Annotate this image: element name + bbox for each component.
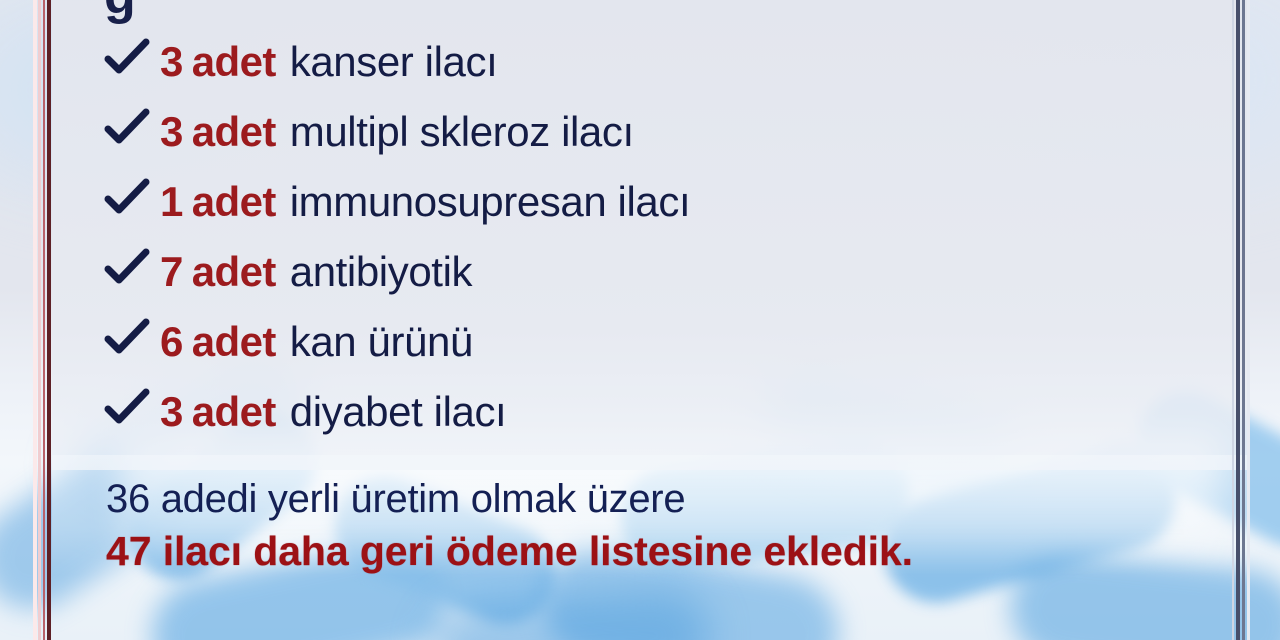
footer-line-domestic-production: 36 adedi yerli üretim olmak üzere: [106, 478, 1216, 521]
list-item-label: multipl skleroz ilacı: [290, 108, 634, 156]
list-item: 3adet multipl skleroz ilacı: [104, 106, 1194, 176]
check-icon: [104, 318, 160, 358]
list-item-label: antibiyotik: [290, 248, 472, 296]
poster-canvas: g 3adet kanser ilacı: [0, 0, 1280, 640]
list-item-label: kan ürünü: [290, 318, 473, 366]
list-item-quantity-number: 3: [160, 388, 183, 435]
list-item-quantity-number: 7: [160, 248, 183, 295]
list-item-quantity-number: 3: [160, 38, 183, 85]
list-item: 3adet diyabet ilacı: [104, 386, 1194, 456]
list-item-label: kanser ilacı: [290, 38, 498, 86]
list-item-quantity-unit: adet: [192, 388, 276, 435]
poster-content: g 3adet kanser ilacı: [0, 0, 1280, 640]
footer-line-reimbursement: 47 ilacı daha geri ödeme listesine ekled…: [106, 529, 1216, 574]
list-item-quantity-unit: adet: [192, 178, 276, 225]
list-item-quantity-unit: adet: [192, 38, 276, 85]
list-item: 7adet antibiyotik: [104, 246, 1194, 316]
check-icon: [104, 248, 160, 288]
list-item: 3adet kanser ilacı: [104, 36, 1194, 106]
list-item-quantity: 3adet: [160, 108, 276, 156]
list-item-quantity: 3adet: [160, 388, 276, 436]
check-icon: [104, 388, 160, 428]
check-icon: [104, 38, 160, 78]
list-item-quantity: 3adet: [160, 38, 276, 86]
list-item-quantity: 1adet: [160, 178, 276, 226]
list-item-label: immunosupresan ilacı: [290, 178, 691, 226]
check-icon: [104, 108, 160, 148]
drug-list: 3adet kanser ilacı 3adet multipl skleroz…: [104, 36, 1194, 456]
list-item-quantity-unit: adet: [192, 318, 276, 365]
list-item-quantity-unit: adet: [192, 248, 276, 295]
list-item: 1adet immunosupresan ilacı: [104, 176, 1194, 246]
list-item-quantity-number: 1: [160, 178, 183, 225]
footer-text-block: 36 adedi yerli üretim olmak üzere 47 ila…: [106, 478, 1216, 574]
list-item-quantity-unit: adet: [192, 108, 276, 155]
list-item-label: diyabet ilacı: [290, 388, 507, 436]
list-item: 6adet kan ürünü: [104, 316, 1194, 386]
list-item-quantity-number: 6: [160, 318, 183, 365]
list-item-quantity-number: 3: [160, 108, 183, 155]
list-item-quantity: 6adet: [160, 318, 276, 366]
check-icon: [104, 178, 160, 218]
clipped-heading-remnant: g: [104, 0, 135, 26]
list-item-quantity: 7adet: [160, 248, 276, 296]
